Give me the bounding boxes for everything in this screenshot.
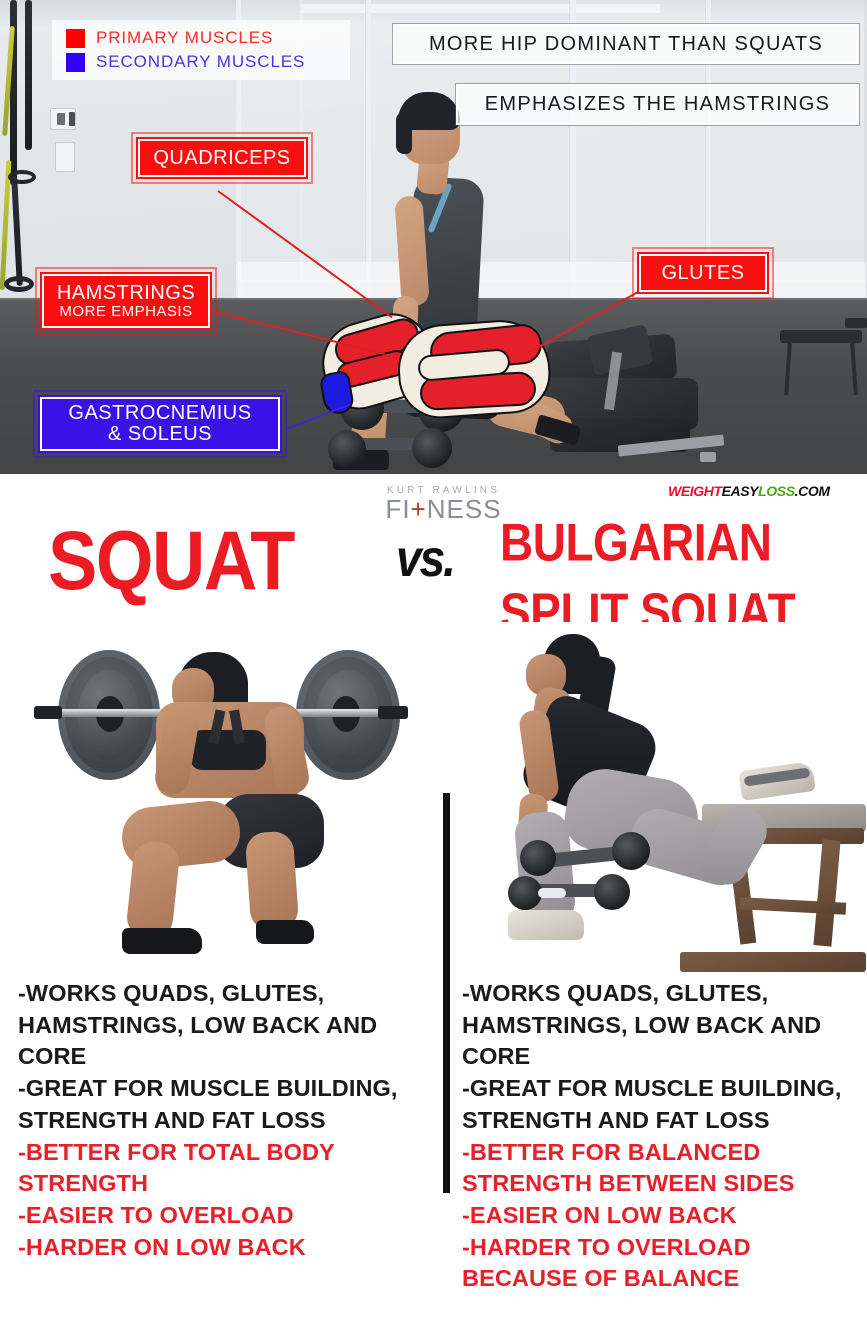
lifter-right-shin bbox=[245, 830, 300, 931]
bss-dumbbell-weight-left bbox=[508, 876, 542, 910]
list-item: -HARDER ON LOW BACK bbox=[18, 1232, 430, 1264]
legend-item-primary: PRIMARY MUSCLES bbox=[66, 28, 350, 48]
label-soleus-text: & SOLEUS bbox=[98, 424, 222, 445]
label-hamstrings-subtext: MORE EMPHASIS bbox=[59, 304, 192, 320]
lifter-right-shoe bbox=[256, 920, 314, 944]
squat-benefits-list: -WORKS QUADS, GLUTES, HAMSTRINGS, LOW BA… bbox=[18, 978, 430, 1263]
bench-base bbox=[680, 952, 866, 972]
list-item: -WORKS QUADS, GLUTES, HAMSTRINGS, LOW BA… bbox=[18, 978, 430, 1073]
bench-foot bbox=[700, 452, 716, 462]
logo-ness: NESS bbox=[427, 494, 502, 524]
bss-wrist-band bbox=[538, 888, 566, 898]
watermark-com: .COM bbox=[795, 483, 830, 499]
watermark-easy: EASY bbox=[722, 483, 759, 499]
watermark-weight: WEIGHT bbox=[668, 483, 722, 499]
athlete-hair-side bbox=[396, 112, 412, 154]
barbell-end-cap-right bbox=[378, 706, 408, 719]
bss-dumbbell-weight-right bbox=[594, 874, 630, 910]
label-hamstrings: HAMSTRINGS MORE EMPHASIS bbox=[40, 272, 212, 330]
list-item: -GREAT FOR MUSCLE BUILDING, STRENGTH AND… bbox=[462, 1073, 862, 1136]
bss-dumbbell-weight-left bbox=[520, 840, 556, 876]
list-item: -BETTER FOR BALANCED STRENGTH BETWEEN SI… bbox=[462, 1137, 862, 1200]
logo-plus-icon: + bbox=[411, 494, 427, 524]
label-gastrocnemius-soleus: GASTROCNEMIUS & SOLEUS bbox=[38, 395, 282, 453]
label-quadriceps-text: QUADRICEPS bbox=[143, 148, 300, 169]
list-item: -WORKS QUADS, GLUTES, HAMSTRINGS, LOW BA… bbox=[462, 978, 862, 1073]
dumbbell-weight-left bbox=[328, 430, 366, 468]
bss-front-shoe bbox=[508, 910, 584, 940]
watermark-loss: LOSS bbox=[758, 483, 795, 499]
logo-main-text: FI+NESS bbox=[381, 494, 506, 525]
trx-handle bbox=[8, 170, 36, 184]
bulgarian-split-squat-benefits-list: -WORKS QUADS, GLUTES, HAMSTRINGS, LOW BA… bbox=[462, 978, 862, 1295]
title-squat: SQUAT bbox=[48, 519, 378, 603]
list-item: -EASIER ON LOW BACK bbox=[462, 1200, 862, 1232]
infographic-page: PRIMARY MUSCLES SECONDARY MUSCLES MORE H… bbox=[0, 0, 867, 1326]
trx-strap bbox=[25, 0, 32, 150]
light-switch bbox=[55, 142, 75, 172]
exercise-demo-photo: PRIMARY MUSCLES SECONDARY MUSCLES MORE H… bbox=[0, 0, 867, 474]
legend-item-secondary: SECONDARY MUSCLES bbox=[66, 52, 350, 72]
label-gastrocnemius-text: GASTROCNEMIUS bbox=[58, 403, 261, 424]
list-item: -HARDER TO OVERLOAD BECAUSE OF BALANCE bbox=[462, 1232, 862, 1295]
gym-stool-seat bbox=[845, 318, 867, 328]
legend-swatch-primary bbox=[66, 29, 85, 48]
site-watermark: WEIGHTEASYLOSS.COM bbox=[668, 483, 830, 499]
thermostat-display bbox=[57, 113, 65, 125]
bss-dumbbell-weight-right bbox=[612, 832, 650, 870]
kurt-rawlins-fitness-logo: KURT RAWLINS FI+NESS bbox=[381, 485, 506, 525]
muscle-color-legend: PRIMARY MUSCLES SECONDARY MUSCLES bbox=[52, 20, 350, 80]
bench-leg-rear bbox=[813, 839, 840, 946]
legend-label-secondary: SECONDARY MUSCLES bbox=[96, 52, 305, 72]
lifter-left-shin bbox=[125, 840, 181, 940]
photo-squat bbox=[26, 636, 436, 966]
label-hamstrings-text: HAMSTRINGS bbox=[47, 283, 205, 304]
legend-label-primary: PRIMARY MUSCLES bbox=[96, 28, 273, 48]
title-bulgarian-line1: BULGARIAN bbox=[500, 508, 867, 577]
column-divider bbox=[443, 793, 450, 1193]
tag-emphasizes-hamstrings: EMPHASIZES THE HAMSTRINGS bbox=[456, 84, 859, 125]
list-item: -GREAT FOR MUSCLE BUILDING, STRENGTH AND… bbox=[18, 1073, 430, 1136]
dumbbell-weight-right bbox=[412, 428, 452, 468]
label-glutes: GLUTES bbox=[637, 252, 769, 294]
label-glutes-text: GLUTES bbox=[651, 263, 754, 284]
label-quadriceps: QUADRICEPS bbox=[136, 137, 308, 179]
tag-hip-dominant: MORE HIP DOMINANT THAN SQUATS bbox=[393, 24, 859, 64]
gym-stool-seat bbox=[780, 330, 862, 343]
title-vs-separator: vs. bbox=[396, 528, 454, 588]
list-item: -BETTER FOR TOTAL BODY STRENGTH bbox=[18, 1137, 430, 1200]
trx-handle bbox=[4, 276, 34, 292]
photo-bulgarian-split-squat bbox=[478, 622, 866, 972]
thermostat-display bbox=[69, 112, 75, 126]
lifter-left-shoe bbox=[122, 928, 202, 954]
barbell-end-cap-left bbox=[34, 706, 62, 719]
list-item: -EASIER TO OVERLOAD bbox=[18, 1200, 430, 1232]
lifter-sports-bra bbox=[190, 730, 266, 770]
logo-fi: FI bbox=[385, 494, 410, 524]
legend-swatch-secondary bbox=[66, 53, 85, 72]
